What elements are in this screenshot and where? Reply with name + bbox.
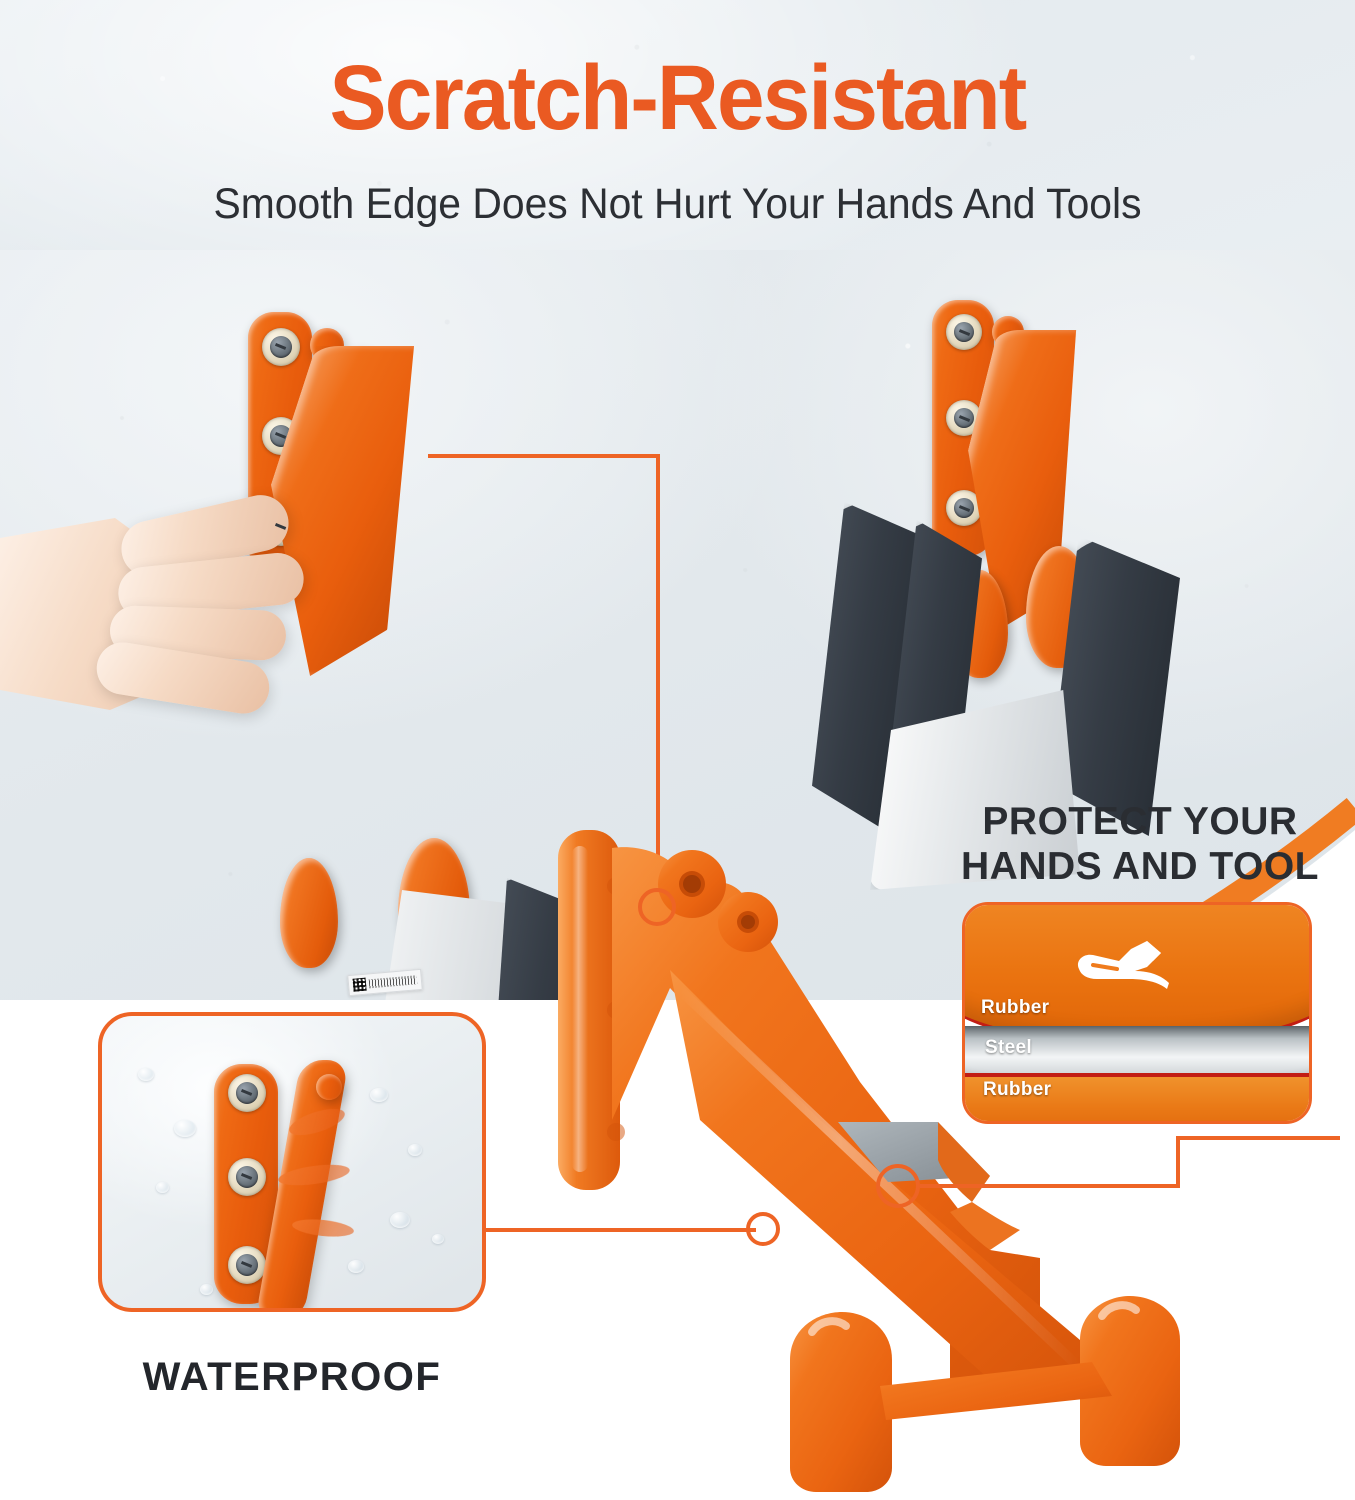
water-droplet <box>156 1182 169 1193</box>
layer-label-rubber-bottom: Rubber <box>983 1079 1051 1101</box>
connector-marker-body <box>746 1212 780 1246</box>
water-droplet <box>138 1068 154 1081</box>
water-droplet <box>408 1144 422 1156</box>
water-droplet <box>432 1234 444 1244</box>
protect-callout-title: PROTECT YOUR HANDS AND TOOL <box>940 800 1340 890</box>
infographic-root: Scratch-Resistant Smooth Edge Does Not H… <box>0 0 1355 1500</box>
layer-label-rubber-top: Rubber <box>981 997 1049 1019</box>
water-droplet <box>174 1120 196 1137</box>
connector-waterproof <box>486 1228 756 1232</box>
screw-icon <box>228 1158 266 1196</box>
waterproof-callout-box <box>98 1012 486 1312</box>
connector-marker-bracket <box>638 888 676 926</box>
screw-icon <box>228 1074 266 1112</box>
screw-icon <box>262 328 300 366</box>
screw-icon <box>228 1246 266 1284</box>
qr-code-icon <box>353 978 367 992</box>
hinge-knuckle <box>316 1074 342 1100</box>
connector-marker-peel <box>876 1164 920 1208</box>
water-droplet <box>370 1088 388 1102</box>
water-droplet <box>390 1212 410 1228</box>
connector-protect-vertical <box>1176 1136 1180 1188</box>
barcode-lines <box>369 975 418 988</box>
connector-protect-bottom <box>920 1184 1180 1188</box>
waterproof-label: WATERPROOF <box>98 1355 486 1400</box>
water-droplet <box>348 1260 364 1273</box>
guide-line-horizontal <box>428 454 660 458</box>
material-layer-diagram: Rubber Steel Rubber <box>962 902 1312 1124</box>
layer-label-steel: Steel <box>985 1037 1032 1059</box>
protect-title-line1: PROTECT YOUR <box>940 800 1340 845</box>
page-subtitle: Smooth Edge Does Not Hurt Your Hands And… <box>34 180 1321 229</box>
water-droplet <box>200 1284 213 1295</box>
hand-protect-icon <box>1061 927 1185 1003</box>
connector-protect-top <box>1180 1136 1340 1140</box>
page-title: Scratch-Resistant <box>47 50 1307 147</box>
screw-icon <box>946 314 982 350</box>
protect-title-line2: HANDS AND TOOL <box>940 845 1340 890</box>
